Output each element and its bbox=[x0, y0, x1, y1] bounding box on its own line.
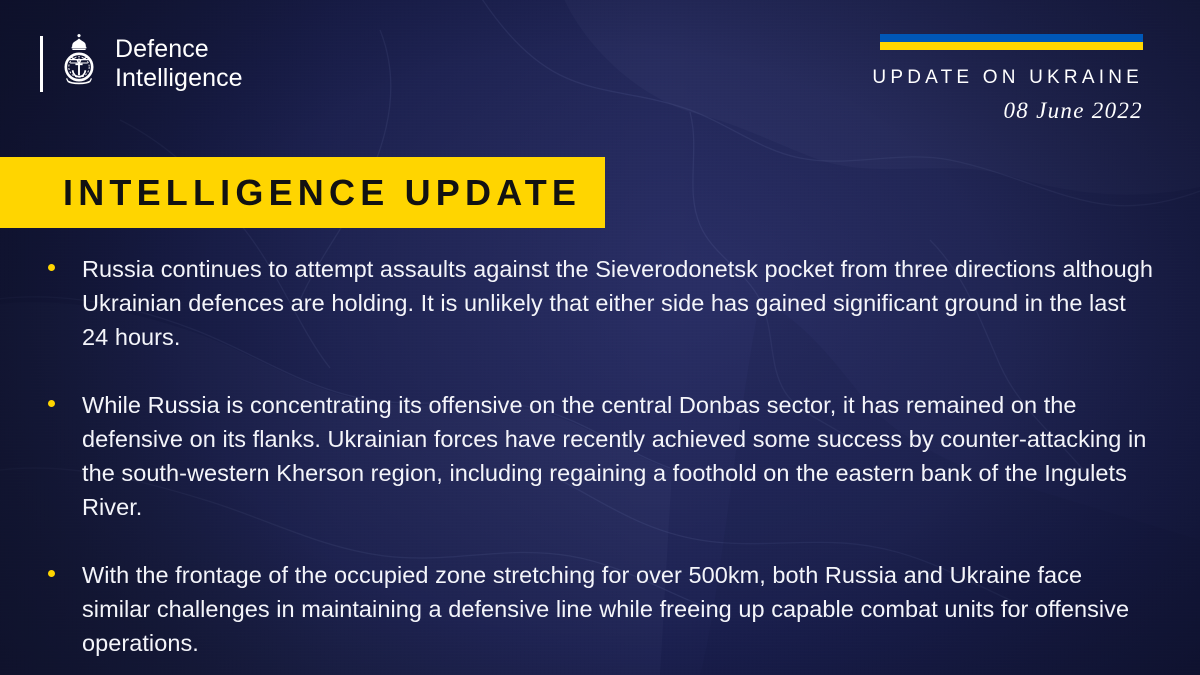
bullet-list: Russia continues to attempt assaults aga… bbox=[48, 252, 1154, 660]
banner-label: INTELLIGENCE UPDATE bbox=[63, 172, 581, 214]
flag-stripe-blue bbox=[880, 34, 1143, 42]
header: Defence Intelligence UPDATE ON UKRAINE 0… bbox=[0, 0, 1200, 150]
bullet-text: Russia continues to attempt assaults aga… bbox=[82, 252, 1154, 354]
list-item: While Russia is concentrating its offens… bbox=[48, 388, 1154, 524]
intelligence-update-slide: Defence Intelligence UPDATE ON UKRAINE 0… bbox=[0, 0, 1200, 675]
logo-divider-rule bbox=[40, 36, 43, 92]
bullet-dot-icon bbox=[48, 570, 55, 577]
bullet-text: While Russia is concentrating its offens… bbox=[82, 388, 1154, 524]
intelligence-update-banner: INTELLIGENCE UPDATE bbox=[0, 157, 605, 228]
header-right-block: UPDATE ON UKRAINE 08 June 2022 bbox=[872, 34, 1143, 124]
mod-crest-icon bbox=[57, 34, 101, 94]
update-date: 08 June 2022 bbox=[872, 98, 1143, 124]
logo-line-1: Defence bbox=[115, 35, 243, 64]
list-item: Russia continues to attempt assaults aga… bbox=[48, 252, 1154, 354]
ukraine-flag-bar-icon bbox=[880, 34, 1143, 50]
update-title: UPDATE ON UKRAINE bbox=[872, 67, 1143, 89]
list-item: With the frontage of the occupied zone s… bbox=[48, 558, 1154, 660]
logo-line-2: Intelligence bbox=[115, 64, 243, 93]
bullet-dot-icon bbox=[48, 264, 55, 271]
logo-wordmark: Defence Intelligence bbox=[115, 35, 243, 93]
flag-stripe-yellow bbox=[880, 42, 1143, 50]
defence-intelligence-logo: Defence Intelligence bbox=[40, 34, 243, 94]
bullet-dot-icon bbox=[48, 400, 55, 407]
bullet-text: With the frontage of the occupied zone s… bbox=[82, 558, 1154, 660]
